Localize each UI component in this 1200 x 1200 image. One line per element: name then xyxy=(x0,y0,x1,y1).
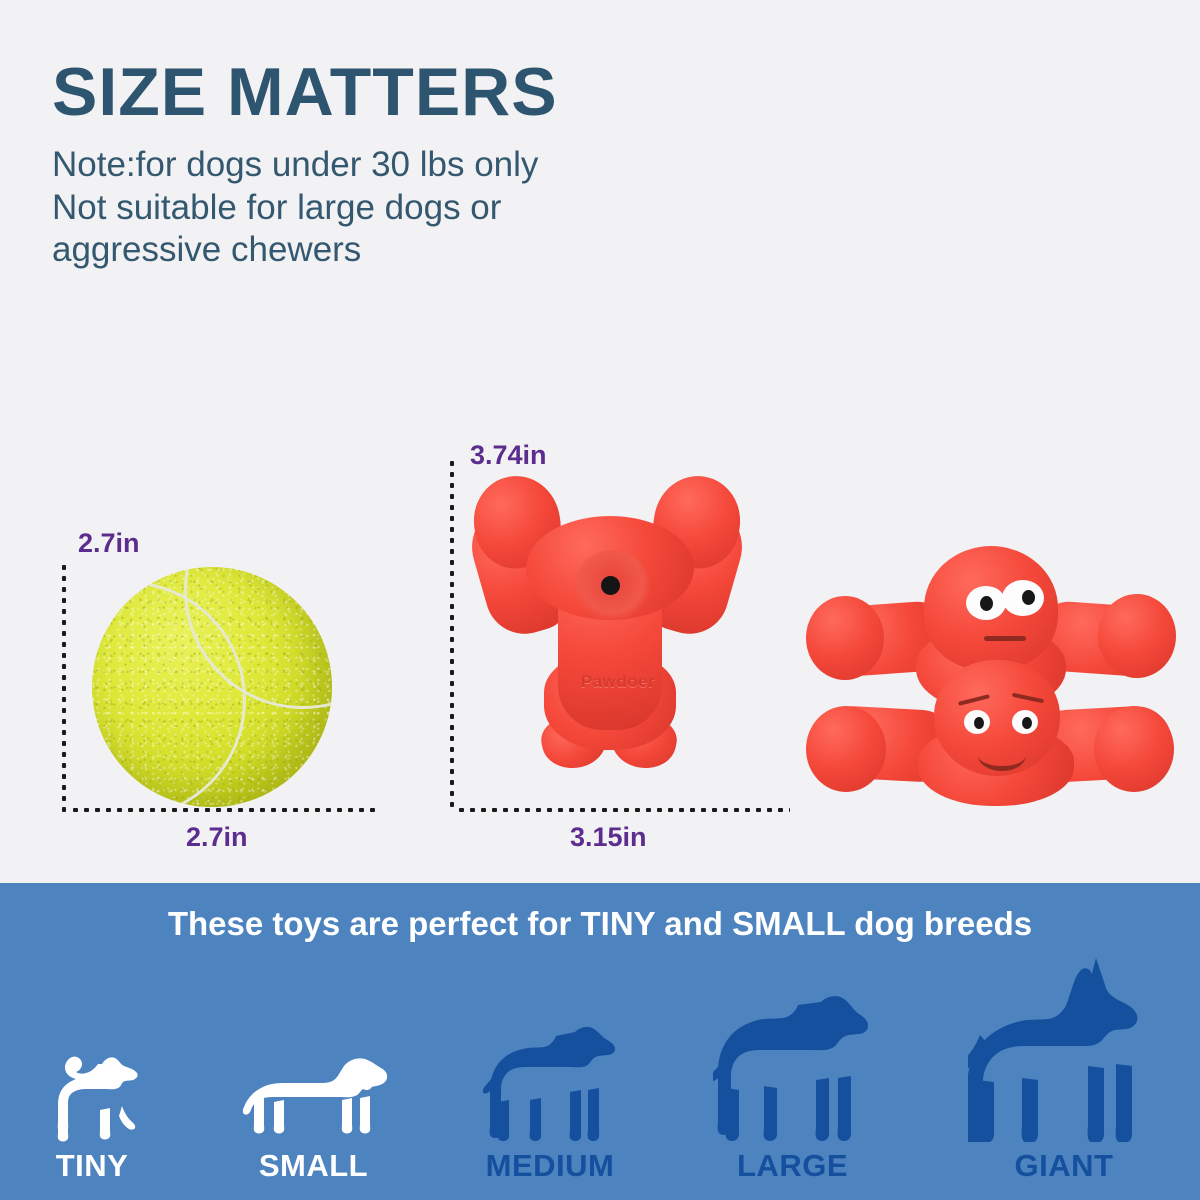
toy-pair-upper-mouth xyxy=(984,636,1026,641)
chew-toy-width-label: 3.15in xyxy=(570,822,647,853)
chew-toy-brand-embossing: Pawdoer xyxy=(570,672,666,692)
tennis-ball-width-label: 2.7in xyxy=(186,822,248,853)
page-subtitle: Note:for dogs under 30 lbs only Not suit… xyxy=(52,144,812,272)
tennis-ball-height-rule xyxy=(62,562,66,812)
toy-pair-lower-pupil-right xyxy=(1022,717,1032,729)
breed-item-large: LARGE xyxy=(713,986,873,1181)
medium-dog-icon xyxy=(483,1014,617,1142)
giant-dog-icon xyxy=(968,950,1160,1142)
breed-label-small: SMALL xyxy=(259,1150,368,1181)
subtitle-line-2: Not suitable for large dogs or xyxy=(52,187,812,230)
breed-item-small: SMALL xyxy=(240,1050,388,1181)
breed-size-row: TINY SMALL MEDIUM xyxy=(40,961,1160,1181)
page-title: SIZE MATTERS xyxy=(52,58,812,126)
toy-pair-lower-smile xyxy=(978,740,1026,771)
toy-pair-lower-pupil-left xyxy=(974,717,984,729)
tennis-ball-image xyxy=(92,567,332,807)
breed-label-giant: GIANT xyxy=(1015,1150,1114,1181)
subtitle-line-1: Note:for dogs under 30 lbs only xyxy=(52,144,812,187)
breed-label-medium: MEDIUM xyxy=(486,1150,615,1181)
toy-pair-upper-hand-right xyxy=(1098,594,1176,678)
chew-toy-height-rule xyxy=(450,458,454,808)
chew-toy-width-rule xyxy=(456,808,790,812)
toy-pair-upper-hand-left xyxy=(806,596,884,680)
banner-headline: These toys are perfect for TINY and SMAL… xyxy=(0,905,1200,943)
toy-pair-lower-hand-right xyxy=(1094,706,1174,792)
toy-pair-image xyxy=(806,530,1176,810)
small-dog-icon xyxy=(240,1050,388,1142)
chew-toy-treat-hole xyxy=(601,576,620,595)
breed-item-tiny: TINY xyxy=(40,1050,144,1181)
subtitle-line-3: aggressive chewers xyxy=(52,229,812,272)
product-comparison-stage: 2.7in 2.7in 3.74in Pawdoer 3 xyxy=(0,330,1200,883)
toy-pair-upper-pupil-left xyxy=(980,596,993,611)
large-dog-icon xyxy=(713,986,873,1142)
toy-pair-upper-pupil-right xyxy=(1022,590,1035,605)
tennis-ball-height-label: 2.7in xyxy=(78,528,140,559)
breed-label-large: LARGE xyxy=(737,1150,848,1181)
breed-banner: These toys are perfect for TINY and SMAL… xyxy=(0,883,1200,1200)
breed-item-giant: GIANT xyxy=(968,950,1160,1181)
tennis-ball-width-rule xyxy=(70,808,378,812)
tiny-dog-icon xyxy=(40,1050,144,1142)
chew-toy-image: Pawdoer xyxy=(466,458,746,798)
header-block: SIZE MATTERS Note:for dogs under 30 lbs … xyxy=(52,58,812,272)
breed-label-tiny: TINY xyxy=(56,1150,129,1181)
toy-pair-lower-hand-left xyxy=(806,706,886,792)
breed-item-medium: MEDIUM xyxy=(483,1014,617,1181)
